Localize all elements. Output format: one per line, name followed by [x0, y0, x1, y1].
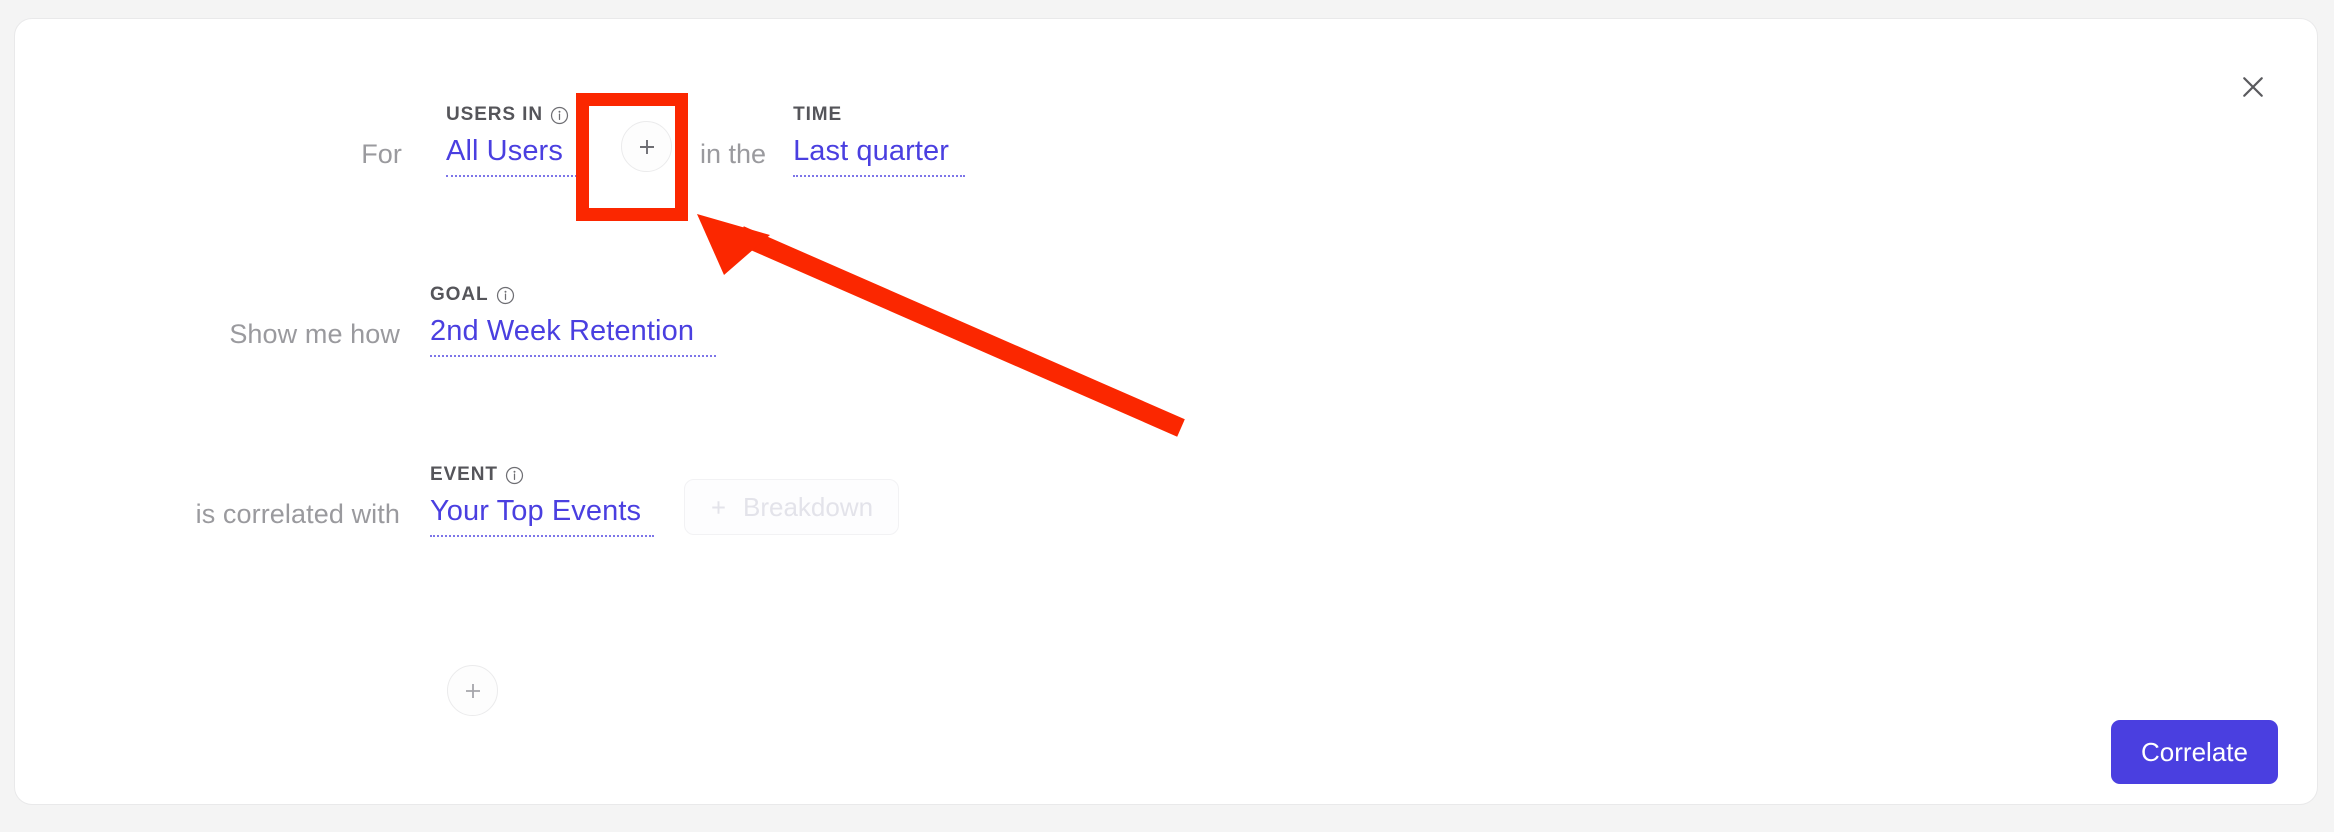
field-label-event: EVENT: [430, 465, 524, 485]
info-circle-icon[interactable]: [496, 286, 515, 305]
field-label-text: GOAL: [430, 285, 489, 305]
query-row-audience: For USERS IN All Users in the: [345, 105, 965, 177]
field-label-time: TIME: [793, 105, 842, 125]
correlation-query-card: For USERS IN All Users in the: [14, 18, 2318, 805]
correlate-button[interactable]: Correlate: [2111, 720, 2278, 784]
field-value-event[interactable]: Your Top Events: [430, 494, 654, 537]
row-prefix-is-correlated-with: is correlated with: [139, 497, 400, 537]
add-breakdown-label: Breakdown: [743, 492, 873, 522]
close-icon[interactable]: [2233, 67, 2273, 107]
row-prefix-for: For: [345, 137, 402, 177]
field-label-text: EVENT: [430, 465, 498, 485]
plus-icon: [707, 496, 730, 519]
field-label-text: USERS IN: [446, 105, 543, 125]
connector-in-the: in the: [700, 137, 766, 177]
field-value-time[interactable]: Last quarter: [793, 134, 965, 177]
field-label-goal: GOAL: [430, 285, 515, 305]
info-circle-icon[interactable]: [550, 106, 569, 125]
add-query-step-button[interactable]: [447, 665, 498, 716]
field-value-users-in[interactable]: All Users: [446, 134, 577, 177]
info-circle-icon[interactable]: [505, 466, 524, 485]
plus-icon: [635, 135, 659, 159]
query-row-goal: Show me how GOAL 2nd Week Retention: [205, 285, 716, 357]
field-value-goal[interactable]: 2nd Week Retention: [430, 314, 716, 357]
field-goal: GOAL 2nd Week Retention: [430, 285, 716, 357]
row-prefix-show-me-how: Show me how: [205, 317, 400, 357]
plus-icon: [461, 679, 485, 703]
add-cohort-plus-button[interactable]: [621, 121, 672, 172]
add-breakdown-button[interactable]: Breakdown: [684, 479, 899, 535]
field-users-in: USERS IN All Users: [446, 105, 577, 177]
field-event: EVENT Your Top Events: [430, 465, 654, 537]
field-label-text: TIME: [793, 105, 842, 125]
query-row-event: is correlated with EVENT Your Top Events: [139, 465, 899, 537]
field-label-users-in: USERS IN: [446, 105, 569, 125]
field-time: TIME Last quarter: [793, 105, 965, 177]
